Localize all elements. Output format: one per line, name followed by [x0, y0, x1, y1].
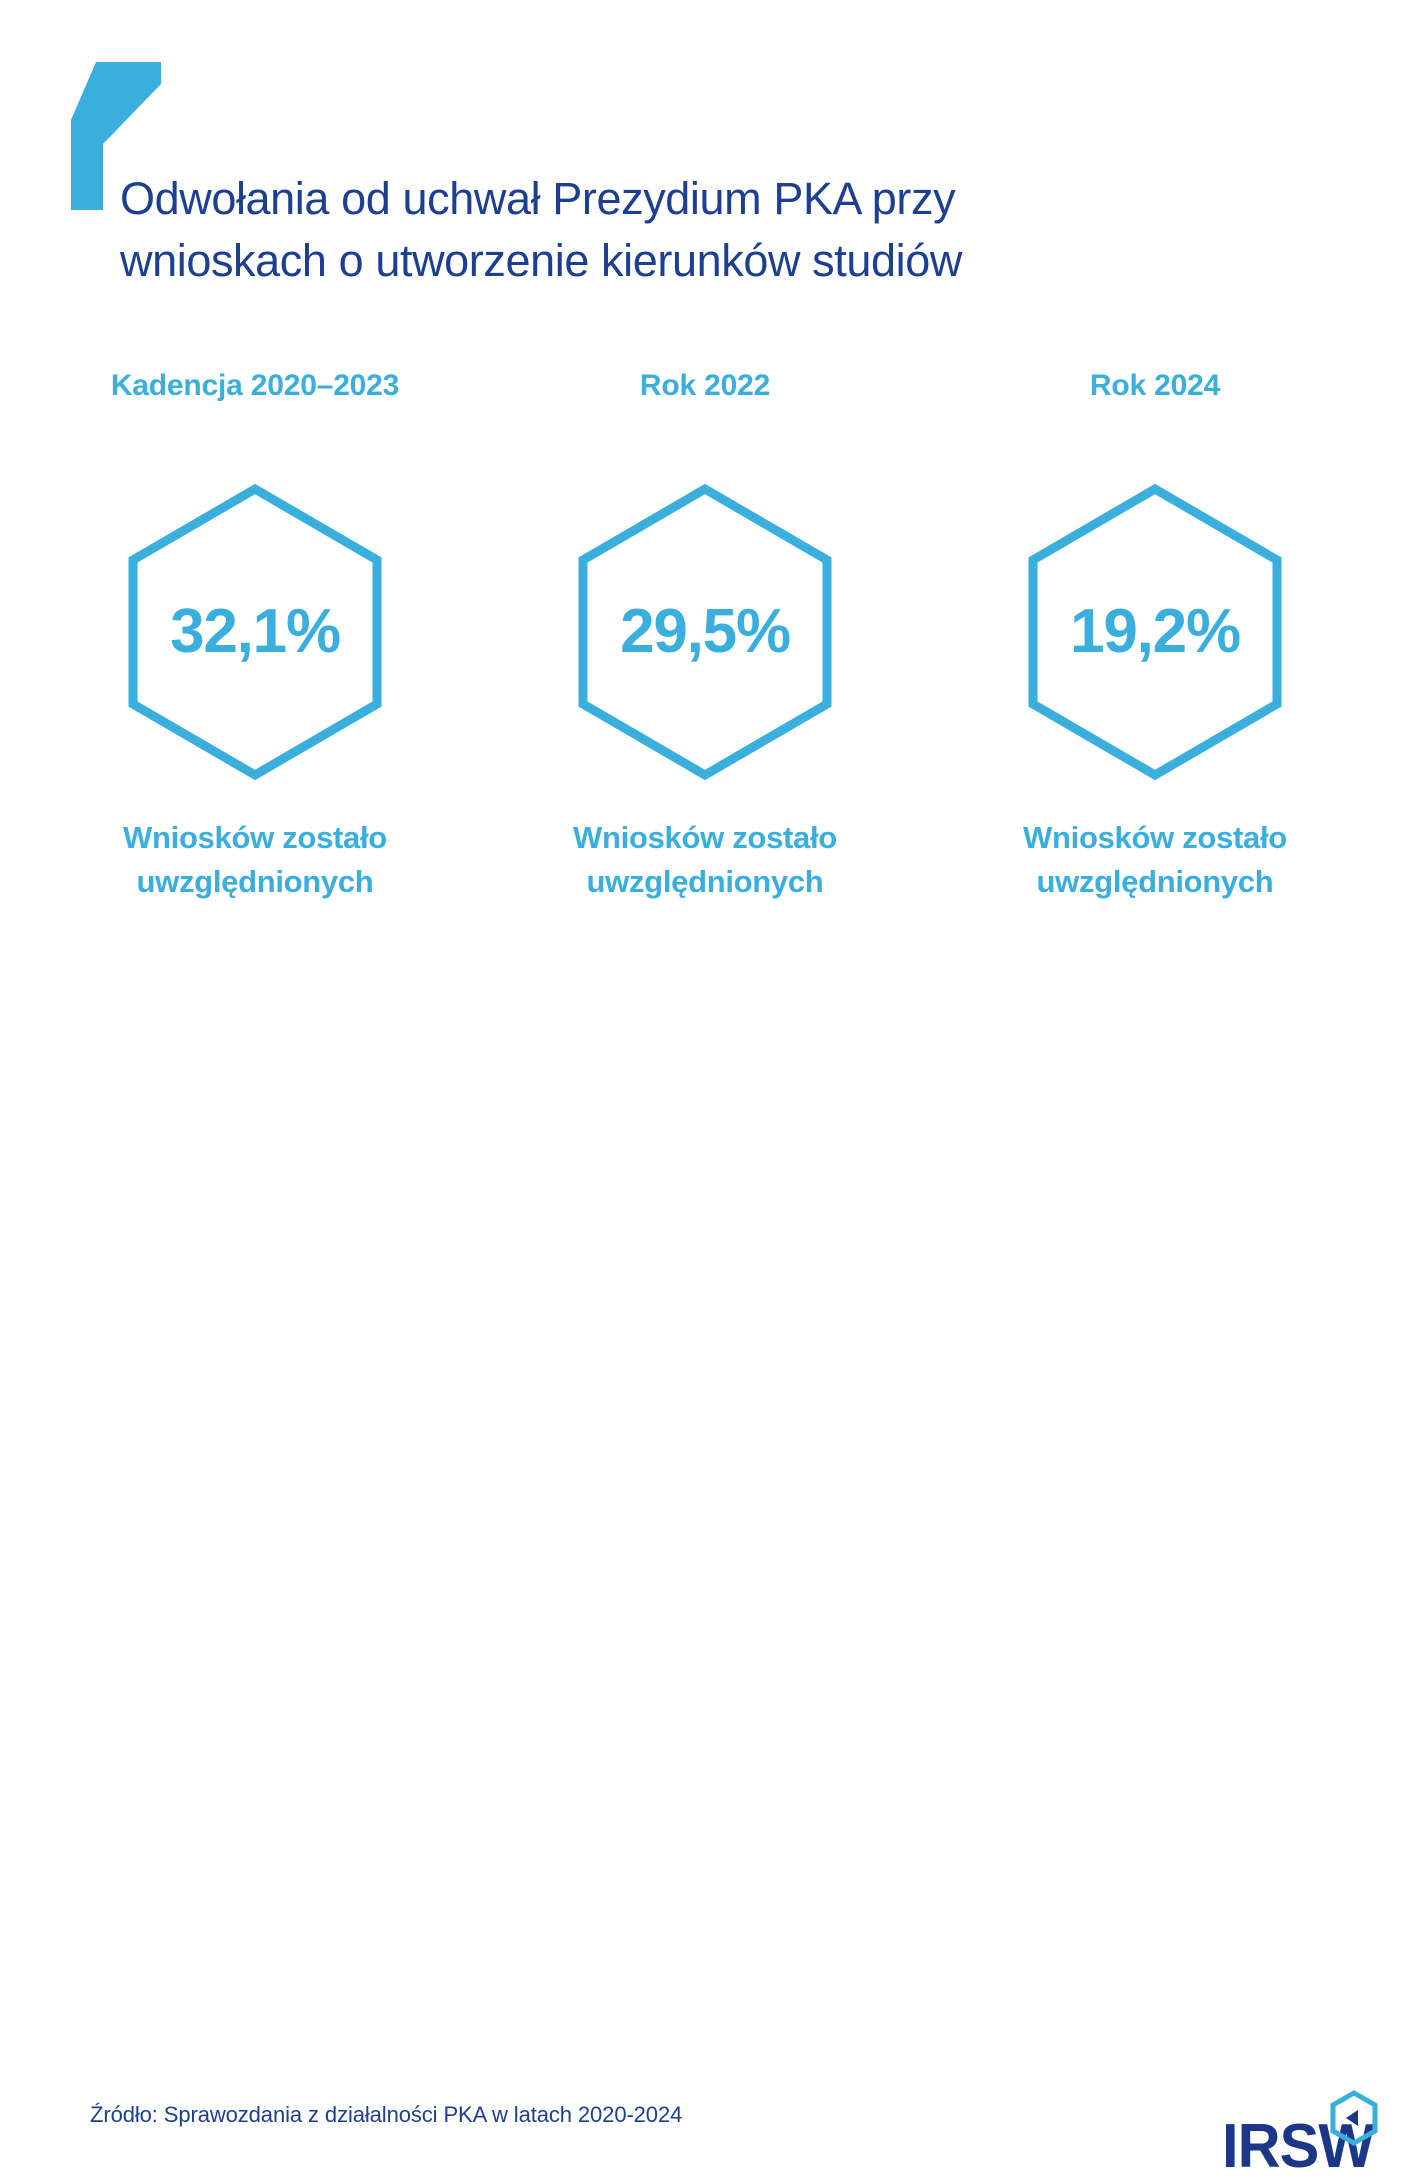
page-title: Odwołania od uchwał Prezydium PKA przy w…	[120, 168, 1180, 292]
source-note: Źródło: Sprawozdania z działalności PKA …	[90, 2100, 682, 2130]
hexagon-play-badge-icon	[1328, 2090, 1380, 2146]
stat-card-kadencja-2020-2023: Kadencja 2020–2023 32,1% Wniosków został…	[40, 368, 470, 904]
stat-caption: Wniosków zostało uwzględnionych	[123, 816, 387, 904]
stat-value: 19,2%	[1028, 484, 1282, 780]
footer: Źródło: Sprawozdania z działalności PKA …	[0, 1032, 1410, 1182]
page-title-line-1: Odwołania od uchwał Prezydium PKA przy	[120, 168, 1180, 230]
stat-caption-line-2: uwzględnionych	[123, 860, 387, 904]
stat-caption: Wniosków zostało uwzględnionych	[573, 816, 837, 904]
stat-heading: Rok 2024	[1090, 368, 1220, 408]
infographic-canvas: Odwołania od uchwał Prezydium PKA przy w…	[0, 0, 1410, 1182]
stat-value: 32,1%	[128, 484, 382, 780]
stat-caption-line-1: Wniosków zostało	[123, 816, 387, 860]
irsw-logo: IRSW	[1222, 2090, 1380, 2182]
header: Odwołania od uchwał Prezydium PKA przy w…	[0, 0, 1410, 300]
stat-card-rok-2022: Rok 2022 29,5% Wniosków zostało uwzględn…	[490, 368, 920, 904]
hexagon-badge: 29,5%	[578, 484, 832, 780]
stat-value: 29,5%	[578, 484, 832, 780]
hexagon-badge: 19,2%	[1028, 484, 1282, 780]
stat-caption-line-1: Wniosków zostało	[1023, 816, 1287, 860]
stat-heading: Kadencja 2020–2023	[111, 368, 399, 408]
stat-caption-line-2: uwzględnionych	[1023, 860, 1287, 904]
stat-caption-line-1: Wniosków zostało	[573, 816, 837, 860]
stat-caption-line-2: uwzględnionych	[573, 860, 837, 904]
stat-caption: Wniosków zostało uwzględnionych	[1023, 816, 1287, 904]
stats-row: Kadencja 2020–2023 32,1% Wniosków został…	[40, 368, 1370, 908]
page-title-line-2: wnioskach o utworzenie kierunków studiów	[120, 230, 1180, 292]
stat-card-rok-2024: Rok 2024 19,2% Wniosków zostało uwzględn…	[940, 368, 1370, 904]
stat-heading: Rok 2022	[640, 368, 770, 408]
hexagon-badge: 32,1%	[128, 484, 382, 780]
